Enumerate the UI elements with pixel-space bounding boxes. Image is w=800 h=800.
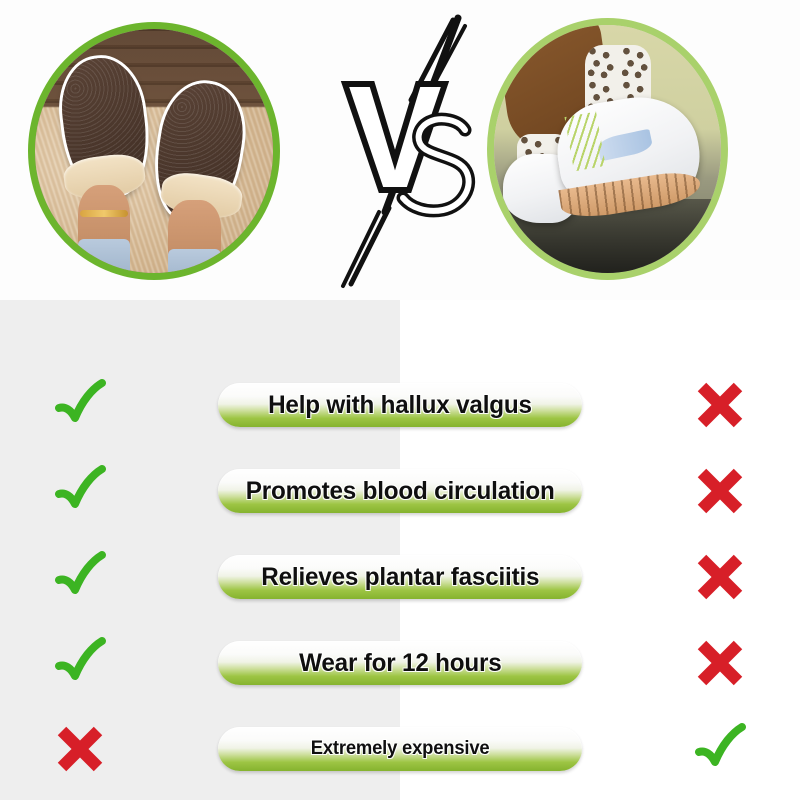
gold-anklet [80, 210, 128, 217]
feature-pill-wrap: Help with hallux valgus [160, 383, 640, 427]
check-icon [52, 635, 108, 691]
sneaker-photo-content [494, 25, 721, 273]
denim-cuff-right [168, 249, 220, 280]
versus-icon [325, 12, 490, 292]
feature-pill-wrap: Relieves plantar fasciitis [160, 555, 640, 599]
cross-icon [694, 551, 746, 603]
feature-pill-wrap: Promotes blood circulation [160, 469, 640, 513]
comparison-rows: Help with hallux valgus Promotes blood c… [0, 368, 800, 788]
right-mark-cross [640, 465, 800, 517]
comparison-row: Extremely expensive [0, 714, 800, 784]
comparison-row: Wear for 12 hours [0, 628, 800, 698]
left-mark-check [0, 635, 160, 691]
comparison-row: Promotes blood circulation [0, 456, 800, 526]
right-mark-check [640, 721, 800, 777]
cross-icon [694, 465, 746, 517]
feature-pill: Extremely expensive [218, 727, 582, 771]
feature-label: Relieves plantar fasciitis [261, 563, 539, 592]
left-mark-cross [0, 723, 160, 775]
feature-pill-wrap: Extremely expensive [160, 727, 640, 771]
feature-pill: Wear for 12 hours [218, 641, 582, 685]
feature-label: Help with hallux valgus [268, 391, 532, 420]
feature-pill: Help with hallux valgus [218, 383, 582, 427]
left-mark-check [0, 549, 160, 605]
feature-pill: Promotes blood circulation [218, 469, 582, 513]
right-mark-cross [640, 551, 800, 603]
comparison-infographic: Help with hallux valgus Promotes blood c… [0, 0, 800, 800]
cross-icon [54, 723, 106, 775]
check-icon [52, 549, 108, 605]
hero-section [0, 0, 800, 300]
feature-label: Extremely expensive [311, 738, 490, 760]
denim-cuff-left [78, 239, 130, 278]
comparison-row: Help with hallux valgus [0, 370, 800, 440]
feature-pill: Relieves plantar fasciitis [218, 555, 582, 599]
feature-pill-wrap: Wear for 12 hours [160, 641, 640, 685]
left-mark-check [0, 377, 160, 433]
comparison-row: Relieves plantar fasciitis [0, 542, 800, 612]
product-photo-right [487, 18, 728, 280]
slipper-photo-content [35, 29, 273, 273]
check-icon [692, 721, 748, 777]
left-mark-check [0, 463, 160, 519]
check-icon [52, 377, 108, 433]
feature-label: Wear for 12 hours [299, 649, 501, 678]
right-mark-cross [640, 637, 800, 689]
check-icon [52, 463, 108, 519]
product-photo-left [28, 22, 280, 280]
right-mark-cross [640, 379, 800, 431]
feature-label: Promotes blood circulation [246, 477, 555, 506]
cross-icon [694, 379, 746, 431]
cross-icon [694, 637, 746, 689]
